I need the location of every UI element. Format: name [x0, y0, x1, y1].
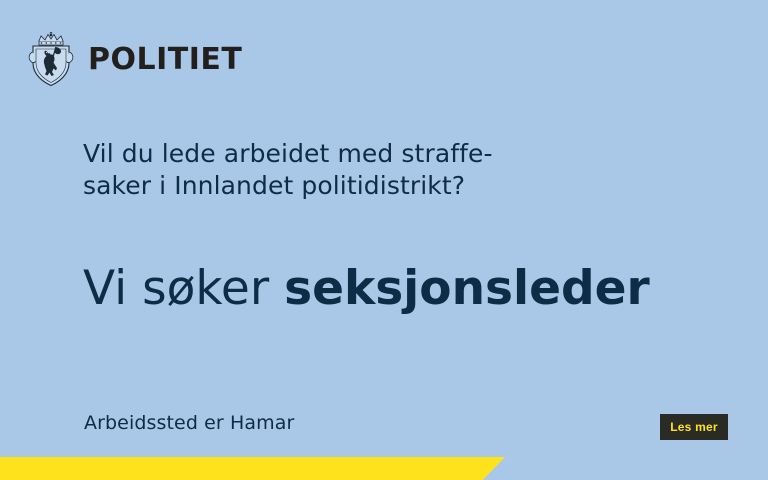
- kicker-line-2: saker i Innlandet politidistrikt?: [83, 170, 553, 202]
- headline: Vi søker seksjonsleder: [83, 262, 650, 316]
- kicker-question: Vil du lede arbeidet med straffe- saker …: [83, 138, 553, 202]
- read-more-button-label: Les mer: [670, 421, 717, 433]
- bottom-accent-band: [0, 457, 505, 480]
- brand-wordmark: POLITIET: [88, 45, 242, 75]
- read-more-button[interactable]: Les mer: [660, 414, 728, 440]
- headline-strong-part: seksjonsleder: [284, 261, 650, 316]
- advertisement-banner: POLITIET Vil du lede arbeidet med straff…: [0, 0, 768, 480]
- kicker-line-1: Vil du lede arbeidet med straffe-: [83, 138, 553, 170]
- location-line: Arbeidssted er Hamar: [84, 412, 294, 434]
- brand-logo-lockup[interactable]: POLITIET: [26, 32, 242, 88]
- headline-light-part: Vi søker: [83, 261, 284, 316]
- norwegian-coat-of-arms-icon: [26, 32, 76, 88]
